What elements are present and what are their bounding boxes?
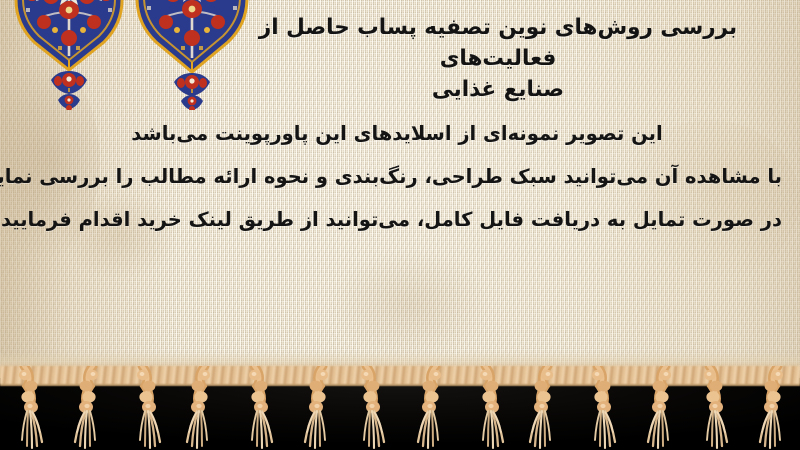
fringe-tassel [351,366,391,450]
slide-body-text: این تصویر نمونه‌ای از اسلایدهای این پاور… [12,112,782,241]
fringe-tassel [411,366,451,450]
slide-title-line-1: بررسی روش‌های نوین تصفیه پساب حاصل از فع… [218,12,778,74]
fringe-tassel [470,366,510,450]
fringe-tassel [694,366,734,450]
body-line-2: با مشاهده آن می‌توانید سبک طراحی، رنگ‌بن… [12,155,782,198]
fringe-tassel [9,366,49,450]
fringe-tassel [641,366,681,450]
slide-canvas: بررسی روش‌های نوین تصفیه پساب حاصل از فع… [0,0,800,450]
body-line-3: در صورت تمایل به دریافت فایل کامل، می‌تو… [12,198,782,241]
fringe-tassel [753,366,793,450]
body-line-1: این تصویر نمونه‌ای از اسلایدهای این پاور… [12,112,782,155]
slide-title: بررسی روش‌های نوین تصفیه پساب حاصل از فع… [218,12,778,105]
fringe-tassel [68,366,108,450]
fringe-tassel [523,366,563,450]
fringe-tassel [239,366,279,450]
fringe-tassel [127,366,167,450]
fringe-tassel [180,366,220,450]
fringe-tassel [582,366,622,450]
slide-title-line-2: صنایع غذایی [218,74,778,105]
persian-medallion-ornament-left [10,0,128,110]
fringe-tassel [298,366,338,450]
